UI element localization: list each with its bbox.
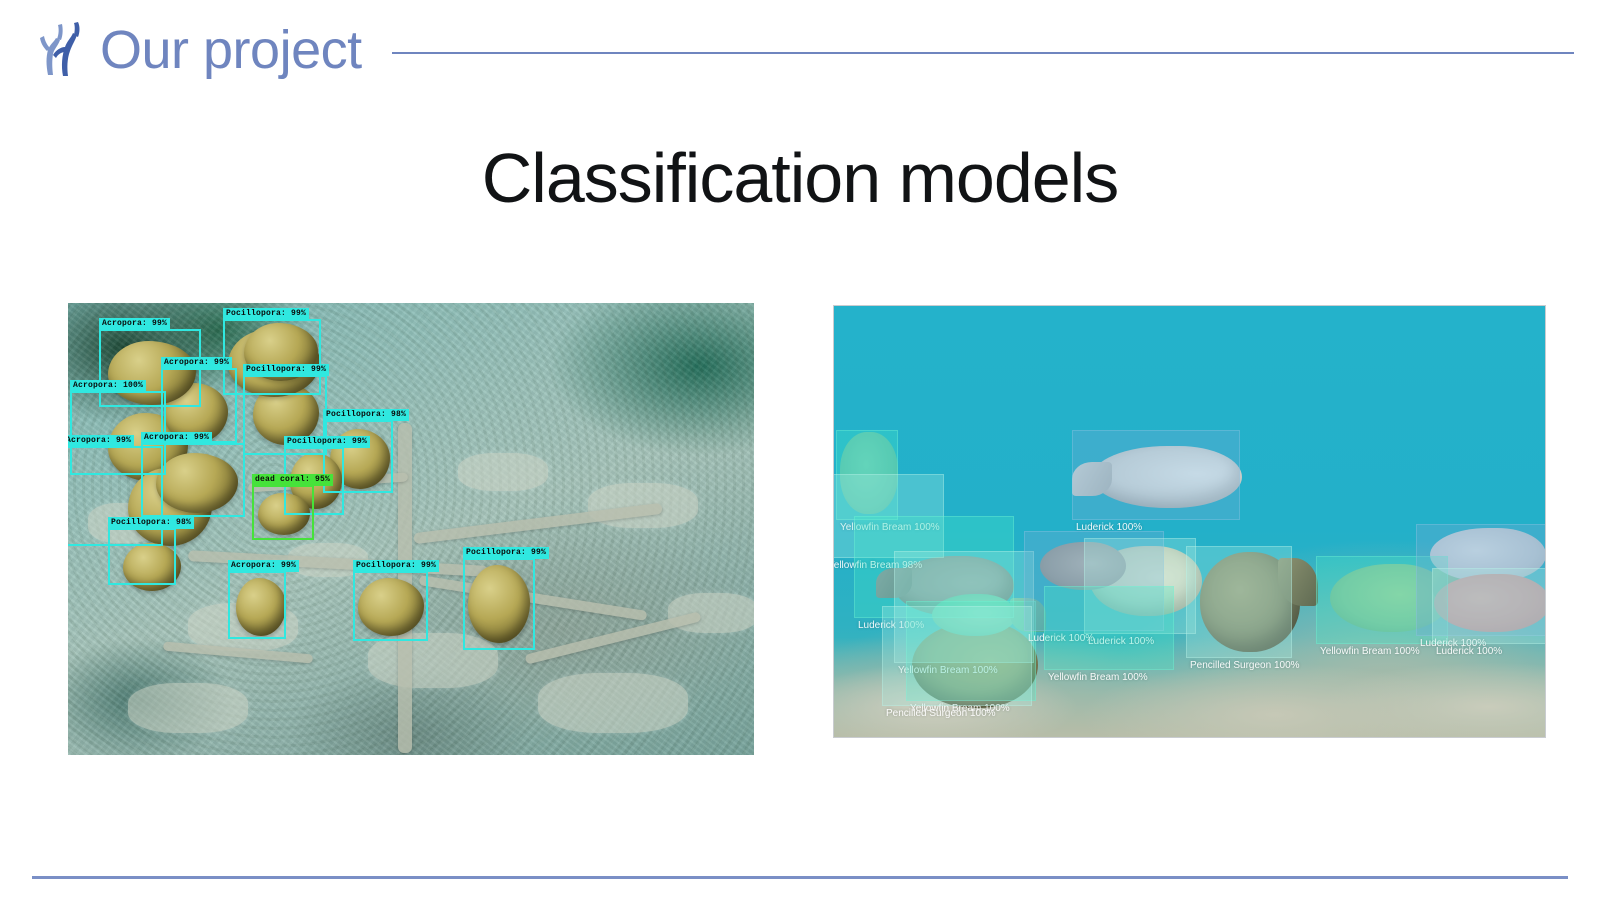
detection-label: Pocillopora: 99% <box>353 560 439 572</box>
footer-divider <box>32 876 1568 879</box>
detection-box <box>1072 430 1240 520</box>
detection-label: Pocillopora: 99% <box>463 547 549 559</box>
detection-box <box>882 606 1032 706</box>
detection-label: Luderick 100% <box>1436 646 1502 657</box>
slide-header: Our project <box>0 0 1600 100</box>
detection-box <box>228 571 286 639</box>
detection-box <box>252 485 314 540</box>
detection-label: Pocillopora: 98% <box>323 409 409 421</box>
detection-label: Acropora: 99% <box>141 432 212 444</box>
header-divider <box>392 52 1574 54</box>
detection-box <box>1432 568 1546 644</box>
detection-box <box>353 571 428 641</box>
header-title: Our project <box>100 23 362 77</box>
detection-label: Acropora: 99% <box>228 560 299 572</box>
detection-box <box>1044 586 1174 670</box>
detection-label: Pocillopora: 98% <box>108 517 194 529</box>
detection-box <box>1186 546 1292 658</box>
detection-label: Yellowfin Bream 100% <box>1048 672 1148 683</box>
detection-label: Pencilled Surgeon 100% <box>1190 660 1300 671</box>
detection-box <box>463 558 535 650</box>
page-title: Classification models <box>0 138 1600 218</box>
detection-box <box>108 528 176 585</box>
detection-label: Pocillopora: 99% <box>284 436 370 448</box>
fish-detection-image: Yellowfin Bream 100%Yellowfin Bream 98%L… <box>833 305 1546 738</box>
detection-label: Pocillopora: 99% <box>243 364 329 376</box>
detection-label: Acropora: 99% <box>68 435 134 447</box>
detection-label: dead coral: 95% <box>252 474 333 486</box>
coral-detection-image: Acropora: 99%Pocillopora: 99%Acropora: 9… <box>68 303 754 755</box>
slide-canvas: Our project Classification models <box>0 0 1600 900</box>
detection-label: Pencilled Surgeon 100% <box>886 708 996 719</box>
detection-label: Acropora: 100% <box>70 380 146 392</box>
detection-label: Pocillopora: 99% <box>223 308 309 320</box>
coral-icon <box>34 21 88 79</box>
detection-label: Acropora: 99% <box>161 357 232 369</box>
detection-label: Yellowfin Bream 100% <box>1320 646 1420 657</box>
detection-label: Acropora: 99% <box>99 318 170 330</box>
